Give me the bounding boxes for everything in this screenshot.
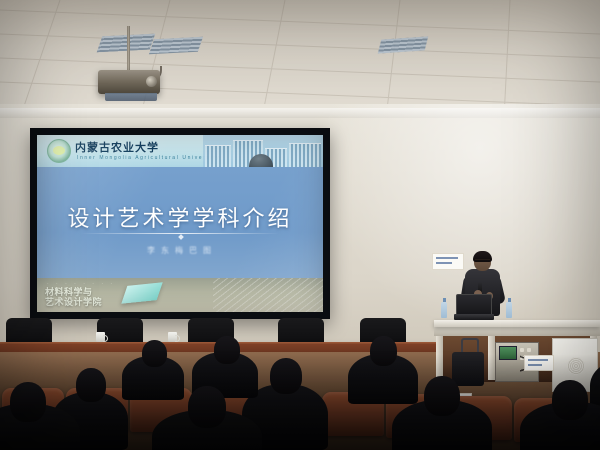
projector-lens-icon — [146, 76, 157, 87]
ceiling-light-panel — [97, 34, 156, 53]
wall-notice-sign — [524, 355, 554, 371]
audience-head — [370, 336, 397, 366]
audience-head — [10, 382, 46, 422]
ceiling — [0, 0, 600, 118]
audience-head — [214, 336, 240, 364]
slide-footer-band: · · · · · · · · 材料科学与 艺术设计学院 — [37, 278, 323, 312]
college-name: 材料科学与 艺术设计学院 — [45, 287, 102, 307]
slide-subtitle: 李 东 梅 巴 图 — [37, 245, 323, 256]
footer-hatch-pattern — [213, 278, 323, 312]
projector-label-plate — [105, 93, 157, 101]
water-bottle — [506, 302, 512, 318]
audience-head — [142, 340, 167, 367]
university-name-cn: 内蒙古农业大学 — [75, 139, 159, 155]
slide-header-band: 内蒙古农业大学 Inner Mongolia Agricultural Univ… — [37, 135, 323, 167]
podium-front-panel — [434, 327, 600, 336]
projector-mount-pole — [127, 26, 130, 74]
audience-head — [552, 380, 588, 420]
rack-display — [499, 346, 517, 360]
college-name-line1: 材料科学与 — [45, 287, 102, 297]
title-ornament-icon — [178, 234, 184, 240]
lecture-hall-photo: 内蒙古农业大学 Inner Mongolia Agricultural Univ… — [0, 0, 600, 450]
diamond-emblem-icon — [121, 282, 162, 303]
water-bottle — [441, 302, 447, 318]
podium-leg — [488, 336, 495, 380]
audience-head — [188, 386, 226, 428]
college-name-line2: 艺术设计学院 — [45, 297, 102, 307]
projection-screen: 内蒙古农业大学 Inner Mongolia Agricultural Univ… — [37, 135, 323, 312]
podium-desk-top — [434, 320, 600, 327]
slide-title: 设计艺术学学科介绍 — [37, 201, 323, 233]
ceiling-tile-grid — [0, 0, 600, 118]
audience-head — [76, 368, 106, 402]
wall-notice-sign — [432, 253, 464, 270]
header-campus-photo — [203, 135, 323, 167]
building-block — [205, 145, 231, 167]
university-seal-logo — [47, 139, 71, 163]
building-block — [289, 143, 321, 167]
university-name-en: Inner Mongolia Agricultural University — [77, 155, 220, 161]
audience-head — [424, 376, 460, 416]
rolling-suitcase — [452, 352, 484, 386]
ceiling-light-panel — [149, 37, 203, 54]
podium-leg — [436, 336, 443, 380]
glasses-icon — [475, 259, 490, 264]
wall-light-reflection — [300, 104, 600, 354]
audience-head — [270, 358, 302, 394]
